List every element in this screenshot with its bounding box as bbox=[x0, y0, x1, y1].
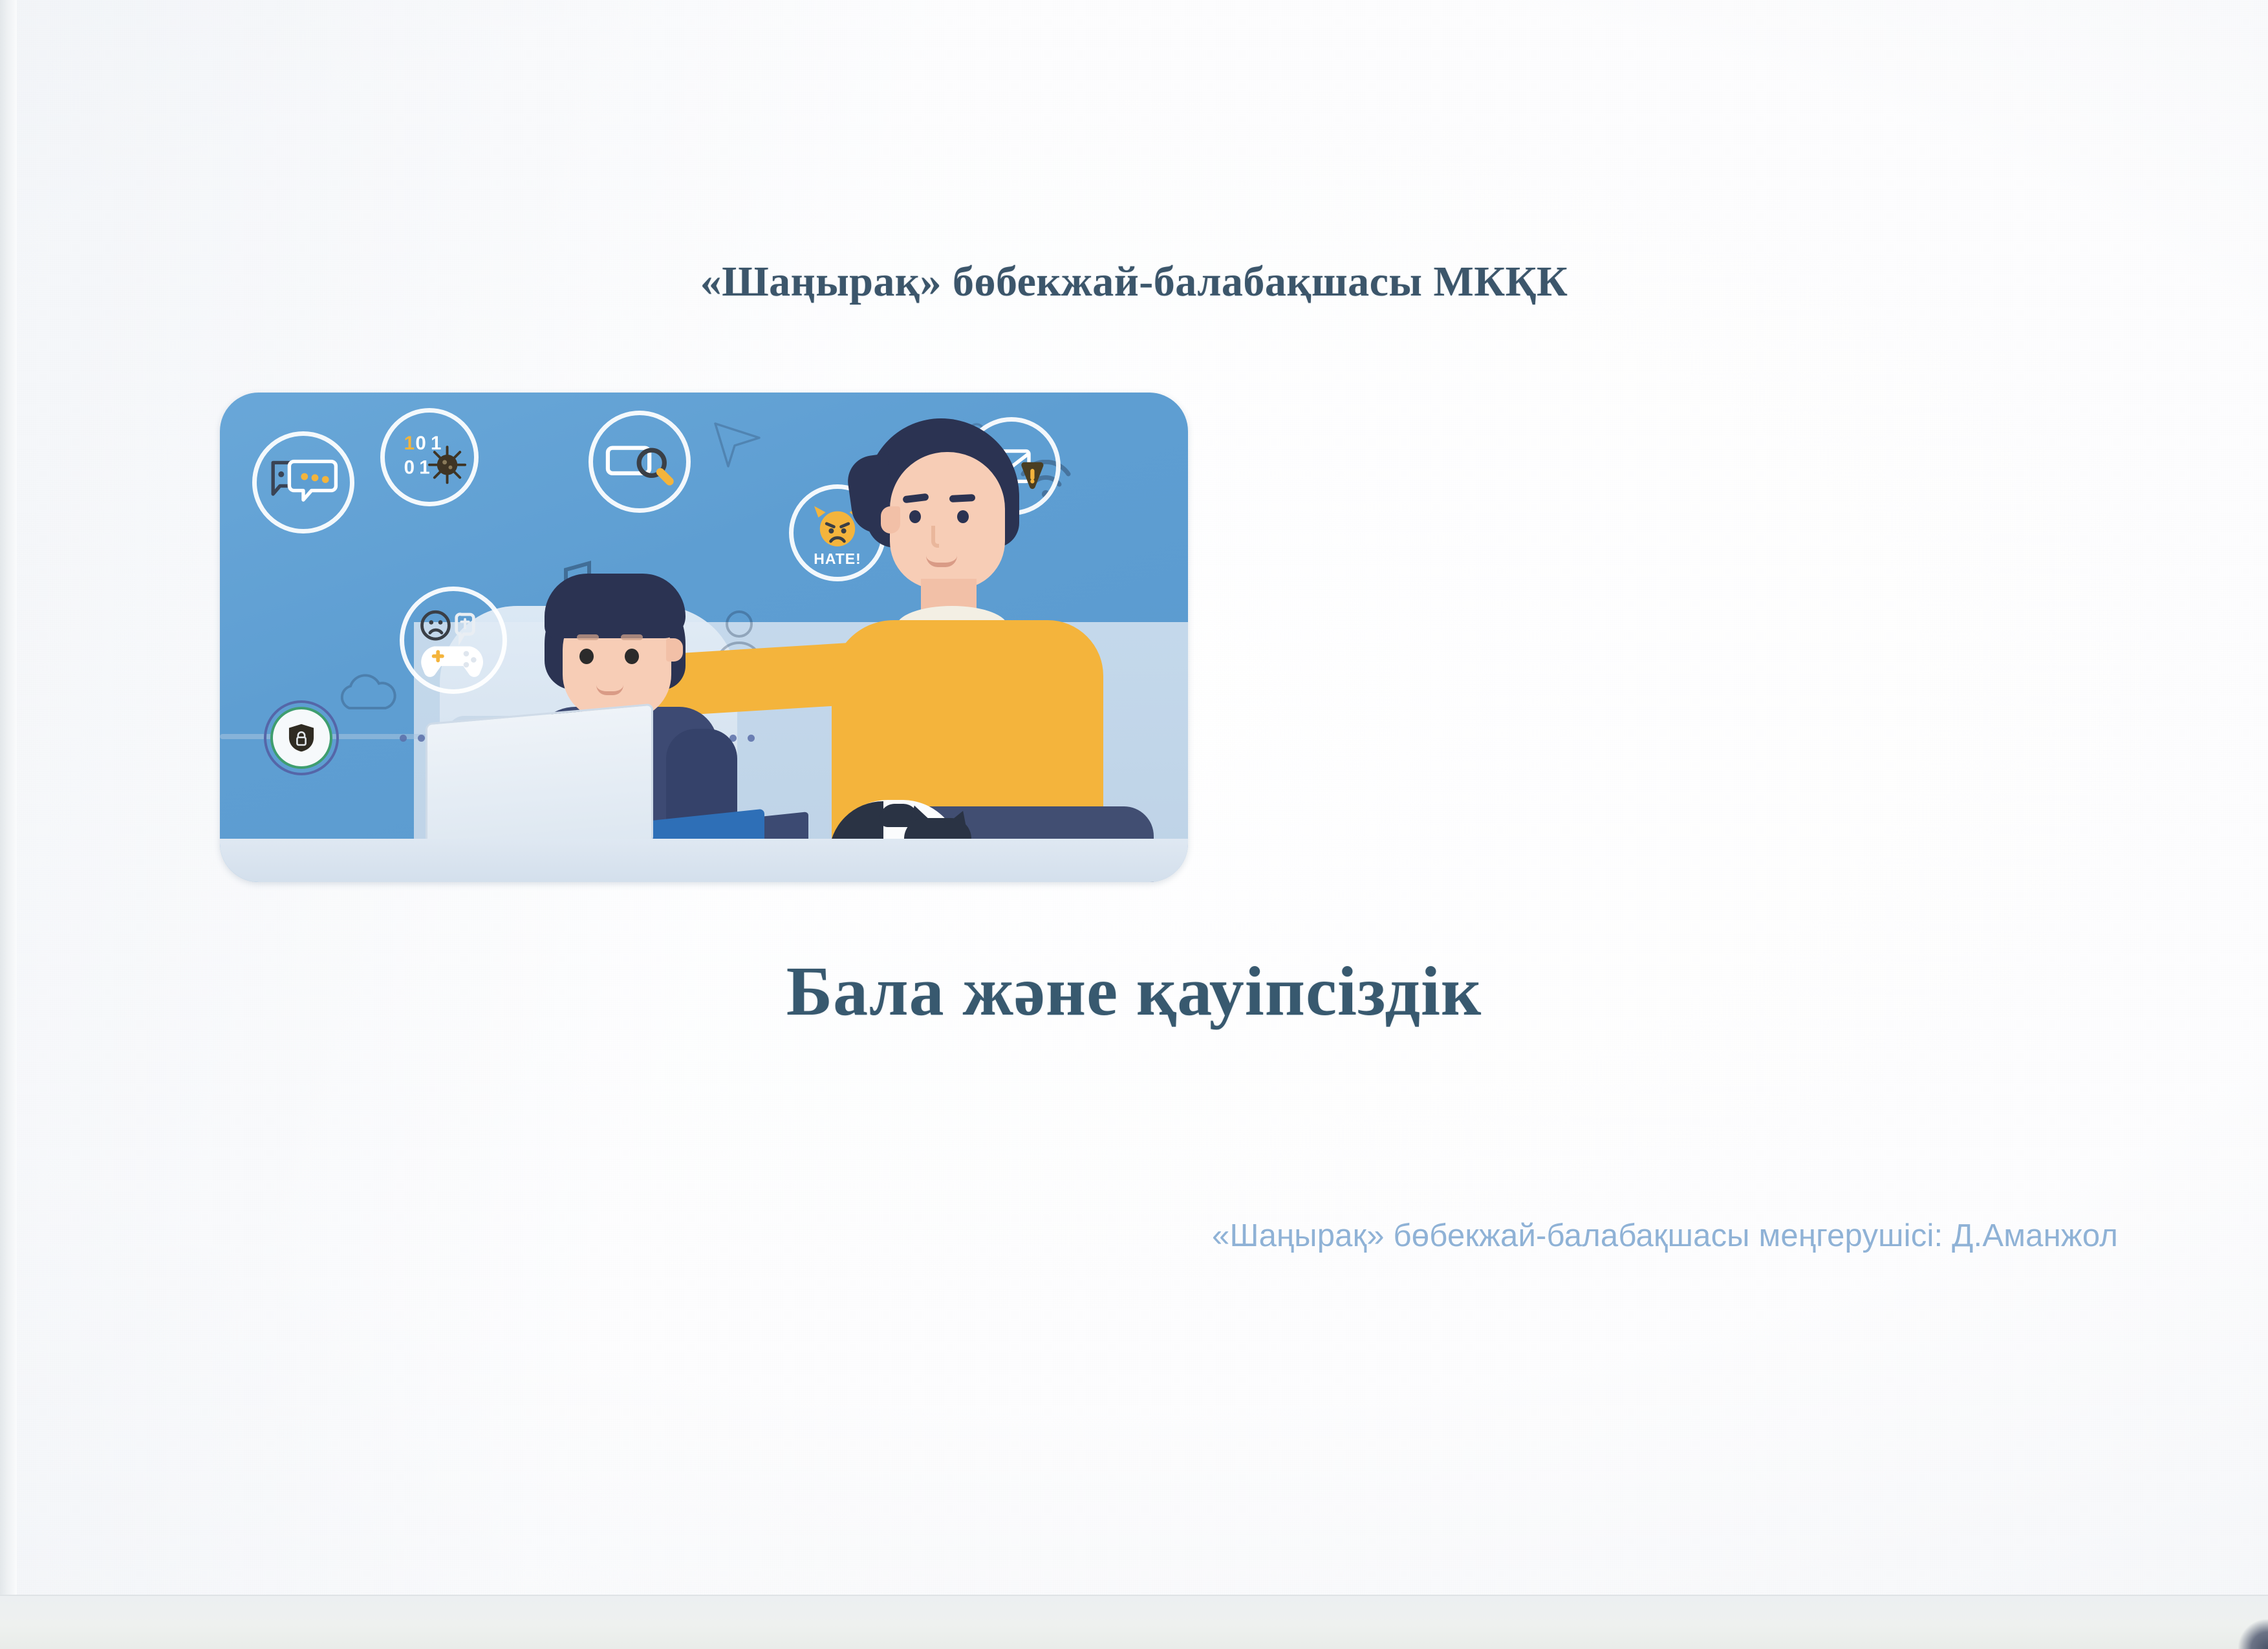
father-eye-right bbox=[957, 510, 969, 523]
father-ear bbox=[881, 506, 900, 533]
child-internet-safety-illustration: 1 0 1 0 1 bbox=[220, 393, 1188, 882]
father-face bbox=[890, 452, 1005, 589]
boy-eye-left bbox=[579, 649, 594, 664]
boy-eyebrow-left bbox=[577, 634, 599, 640]
binary-virus-icon: 1 0 1 0 1 bbox=[380, 408, 479, 506]
footer-credit: «Шаңырақ» бөбекжай-балабақшасы меңгеруші… bbox=[0, 1218, 2268, 1254]
hate-label: HATE! bbox=[794, 550, 881, 568]
svg-text:0: 0 bbox=[404, 457, 415, 479]
search-browser-icon bbox=[589, 411, 691, 513]
svg-text:1: 1 bbox=[431, 433, 441, 454]
boy-hair-fringe bbox=[545, 574, 686, 638]
scanned-page: «Шаңырақ» бөбекжай-балабақшасы МКҚК bbox=[0, 0, 2268, 1649]
organization-heading: «Шаңырақ» бөбекжай-балабақшасы МКҚК bbox=[0, 257, 2268, 307]
father-eye-left bbox=[909, 510, 921, 523]
desk-surface bbox=[220, 839, 1188, 882]
cloud-icon bbox=[335, 671, 400, 716]
father-nose bbox=[931, 526, 939, 548]
svg-text:1: 1 bbox=[419, 457, 429, 479]
father-eyebrow-right bbox=[949, 494, 976, 502]
chat-bubbles-icon bbox=[252, 431, 354, 533]
svg-text:1: 1 bbox=[404, 433, 415, 454]
scan-left-edge bbox=[0, 0, 17, 1649]
boy-eyebrow-right bbox=[621, 634, 643, 640]
scan-bottom-edge bbox=[0, 1595, 2268, 1649]
page-title: Бала және қауіпсіздік bbox=[0, 952, 2268, 1032]
boy-eye-right bbox=[625, 649, 639, 664]
gaming-dislike-icon bbox=[400, 587, 507, 694]
shield-protection-icon bbox=[264, 700, 339, 775]
boy-ear bbox=[666, 638, 683, 662]
send-arrow-icon bbox=[711, 418, 763, 470]
svg-text:0: 0 bbox=[415, 433, 426, 454]
